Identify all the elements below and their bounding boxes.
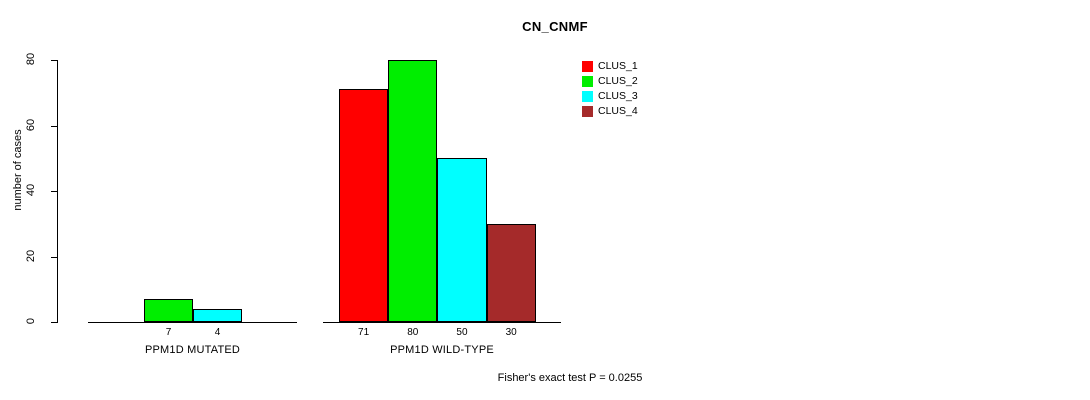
legend-item-clus_1: CLUS_1	[582, 59, 638, 74]
chart-title: CN_CNMF	[430, 19, 680, 34]
x-axis-group-label: PPM1D MUTATED	[88, 344, 297, 356]
y-axis-tick	[51, 126, 58, 127]
y-axis-tick-label: 40	[25, 173, 37, 207]
bar-value-label: 71	[339, 327, 388, 338]
bar-clus_3	[193, 309, 242, 322]
bar-clus_4	[487, 224, 536, 322]
legend-label: CLUS_3	[598, 91, 638, 102]
y-axis-tick	[51, 60, 58, 61]
legend-swatch-icon	[582, 106, 593, 117]
bar-clus_2	[388, 60, 437, 322]
legend-label: CLUS_4	[598, 106, 638, 117]
bar-value-label: 80	[388, 327, 437, 338]
y-axis-tick-label: 0	[25, 304, 37, 338]
y-axis-tick-label: 20	[25, 239, 37, 273]
bar-clus_3	[437, 158, 486, 322]
bar-clus_2	[144, 299, 193, 322]
legend-swatch-icon	[582, 76, 593, 87]
y-axis-tick	[51, 322, 58, 323]
bar-value-label: 4	[193, 327, 242, 338]
legend-label: CLUS_2	[598, 76, 638, 87]
legend-item-clus_3: CLUS_3	[582, 89, 638, 104]
y-axis-tick-label: 60	[25, 108, 37, 142]
legend-swatch-icon	[582, 61, 593, 72]
legend-label: CLUS_1	[598, 61, 638, 72]
x-axis-line	[323, 322, 561, 323]
legend-item-clus_4: CLUS_4	[582, 104, 638, 119]
bar-value-label: 50	[437, 327, 486, 338]
bar-value-label: 30	[487, 327, 536, 338]
x-axis-line	[88, 322, 297, 323]
y-axis-tick	[51, 191, 58, 192]
legend-item-clus_2: CLUS_2	[582, 74, 638, 89]
bar-clus_1	[339, 89, 388, 322]
statistical-annotation: Fisher's exact test P = 0.0255	[390, 372, 750, 384]
chart-legend: CLUS_1CLUS_2CLUS_3CLUS_4	[582, 59, 638, 119]
y-axis-tick	[51, 257, 58, 258]
bar-value-label: 7	[144, 327, 193, 338]
x-axis-group-label: PPM1D WILD-TYPE	[323, 344, 561, 356]
legend-swatch-icon	[582, 91, 593, 102]
bar-chart-figure: CN_CNMF number of cases 020406080 74PPM1…	[0, 0, 1090, 400]
y-axis-tick-label: 80	[25, 42, 37, 76]
y-axis-title: number of cases	[12, 100, 24, 240]
